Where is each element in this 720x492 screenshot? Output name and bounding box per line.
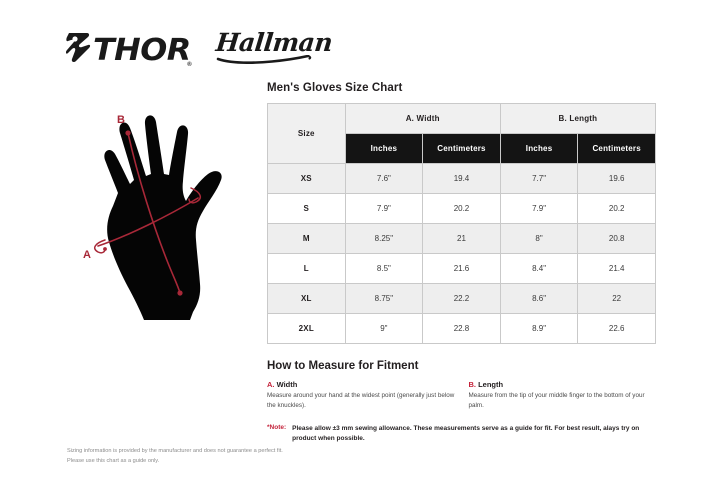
table-row: 2XL 9" 22.8 8.9" 22.6 xyxy=(268,314,656,344)
cell-length-cm: 20.2 xyxy=(578,194,656,224)
measure-width-heading: A. Width xyxy=(267,380,455,389)
hallman-logo: Hallman xyxy=(216,30,332,73)
thor-logo: THOR ® xyxy=(66,32,192,71)
cell-length-cm: 19.6 xyxy=(578,164,656,194)
cell-width-cm: 19.4 xyxy=(423,164,501,194)
cell-size: L xyxy=(268,254,346,284)
table-row: XS 7.6" 19.4 7.7" 19.6 xyxy=(268,164,656,194)
hallman-wordmark: Hallman xyxy=(214,30,333,55)
cell-width-cm: 20.2 xyxy=(423,194,501,224)
cell-size: XL xyxy=(268,284,346,314)
cell-width-cm: 21 xyxy=(423,224,501,254)
cell-width-in: 9" xyxy=(345,314,423,344)
disclaimer-line-2: Please use this chart as a guide only. xyxy=(67,457,387,467)
cell-width-in: 8.75" xyxy=(345,284,423,314)
column-group-header-width: A. Width xyxy=(345,104,500,134)
cell-width-cm: 22.2 xyxy=(423,284,501,314)
measure-length-name: Length xyxy=(476,380,503,389)
size-chart-table: Size A. Width B. Length Inches Centimete… xyxy=(267,103,656,344)
table-row: XL 8.75" 22.2 8.6" 22 xyxy=(268,284,656,314)
column-header-width-inches: Inches xyxy=(345,134,423,164)
cell-size: 2XL xyxy=(268,314,346,344)
table-body: XS 7.6" 19.4 7.7" 19.6 S 7.9" 20.2 7.9" … xyxy=(268,164,656,344)
how-to-measure-title: How to Measure for Fitment xyxy=(267,360,656,372)
glove-measurement-illustration: B A xyxy=(58,88,268,328)
disclaimer-line-1: Sizing information is provided by the ma… xyxy=(67,447,387,457)
cell-length-in: 8.6" xyxy=(500,284,578,314)
cell-length-cm: 21.4 xyxy=(578,254,656,284)
cell-length-in: 7.9" xyxy=(500,194,578,224)
column-header-length-inches: Inches xyxy=(500,134,578,164)
cell-width-in: 8.5" xyxy=(345,254,423,284)
sewing-allowance-note: *Note: Please allow ±3 mm sewing allowan… xyxy=(267,424,656,445)
cell-width-cm: 22.8 xyxy=(423,314,501,344)
table-row: S 7.9" 20.2 7.9" 20.2 xyxy=(268,194,656,224)
column-header-width-centimeters: Centimeters xyxy=(423,134,501,164)
cell-width-cm: 21.6 xyxy=(423,254,501,284)
thor-wordmark: THOR xyxy=(93,36,191,66)
cell-size: S xyxy=(268,194,346,224)
measure-width-name: Width xyxy=(275,380,298,389)
measure-length-letter: B. xyxy=(469,380,477,389)
measure-length-heading: B. Length xyxy=(469,380,657,389)
column-header-length-centimeters: Centimeters xyxy=(578,134,656,164)
table-row: L 8.5" 21.6 8.4" 21.4 xyxy=(268,254,656,284)
measure-width-block: A. Width Measure around your hand at the… xyxy=(267,380,455,411)
label-b-length: B xyxy=(117,114,125,126)
measure-length-body: Measure from the tip of your middle fing… xyxy=(469,391,657,411)
cell-length-cm: 20.8 xyxy=(578,224,656,254)
brand-logo-bar: THOR ® Hallman xyxy=(66,30,332,72)
measure-length-block: B. Length Measure from the tip of your m… xyxy=(469,380,657,411)
table-row: M 8.25" 21 8" 20.8 xyxy=(268,224,656,254)
disclaimer-footer: Sizing information is provided by the ma… xyxy=(67,447,387,467)
cell-size: M xyxy=(268,224,346,254)
table-header-row-groups: Size A. Width B. Length xyxy=(268,104,656,134)
cell-width-in: 7.6" xyxy=(345,164,423,194)
cell-length-cm: 22.6 xyxy=(578,314,656,344)
cell-size: XS xyxy=(268,164,346,194)
measure-width-letter: A. xyxy=(267,380,275,389)
note-text: Please allow ±3 mm sewing allowance. The… xyxy=(292,424,656,445)
cell-length-cm: 22 xyxy=(578,284,656,314)
cell-length-in: 7.7" xyxy=(500,164,578,194)
cell-length-in: 8" xyxy=(500,224,578,254)
cell-length-in: 8.9" xyxy=(500,314,578,344)
measure-width-body: Measure around your hand at the widest p… xyxy=(267,391,455,411)
page-title: Men's Gloves Size Chart xyxy=(267,82,656,94)
column-group-header-length: B. Length xyxy=(500,104,655,134)
thor-shield-icon xyxy=(66,32,92,71)
how-to-measure-section: How to Measure for Fitment A. Width Meas… xyxy=(267,360,656,444)
cell-width-in: 7.9" xyxy=(345,194,423,224)
size-chart-panel: Men's Gloves Size Chart Size A. Width B.… xyxy=(267,82,656,444)
table-header: Size A. Width B. Length Inches Centimete… xyxy=(268,104,656,164)
how-to-measure-columns: A. Width Measure around your hand at the… xyxy=(267,380,656,411)
cell-length-in: 8.4" xyxy=(500,254,578,284)
label-a-width: A xyxy=(83,249,91,261)
note-label: *Note: xyxy=(267,424,286,431)
cell-width-in: 8.25" xyxy=(345,224,423,254)
column-header-size: Size xyxy=(268,104,346,164)
